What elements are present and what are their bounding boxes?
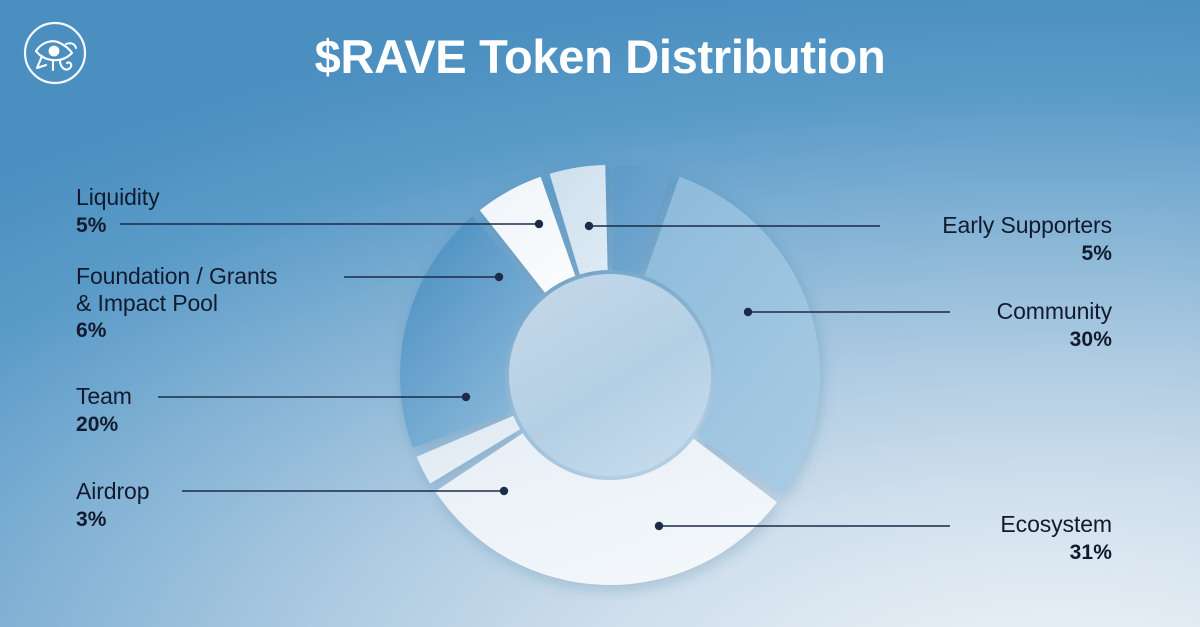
callout-label-foundation: Foundation / Grants & Impact Pool (76, 263, 277, 316)
callout-foundation: Foundation / Grants & Impact Pool6% (76, 263, 277, 344)
callout-percent-liquidity: 5% (76, 214, 160, 238)
callout-percent-ecosystem: 31% (0, 541, 1112, 565)
callout-percent-airdrop: 3% (76, 508, 149, 532)
page-title: $RAVE Token Distribution (0, 31, 1200, 84)
callout-percent-team: 20% (76, 413, 132, 437)
callout-early: Early Supporters5% (0, 212, 1112, 266)
callout-label-team: Team (76, 383, 132, 410)
callout-ecosystem: Ecosystem31% (0, 511, 1112, 565)
callout-liquidity: Liquidity5% (76, 184, 160, 238)
callout-airdrop: Airdrop3% (76, 478, 149, 532)
callout-percent-foundation: 6% (76, 319, 277, 343)
infographic-canvas: $RAVE Token Distribution Early Supporter… (0, 0, 1200, 627)
callout-label-airdrop: Airdrop (76, 478, 149, 505)
callout-label-liquidity: Liquidity (76, 184, 160, 211)
callout-label-ecosystem: Ecosystem (0, 511, 1112, 538)
callout-team: Team20% (76, 383, 132, 437)
callout-label-early: Early Supporters (0, 212, 1112, 239)
